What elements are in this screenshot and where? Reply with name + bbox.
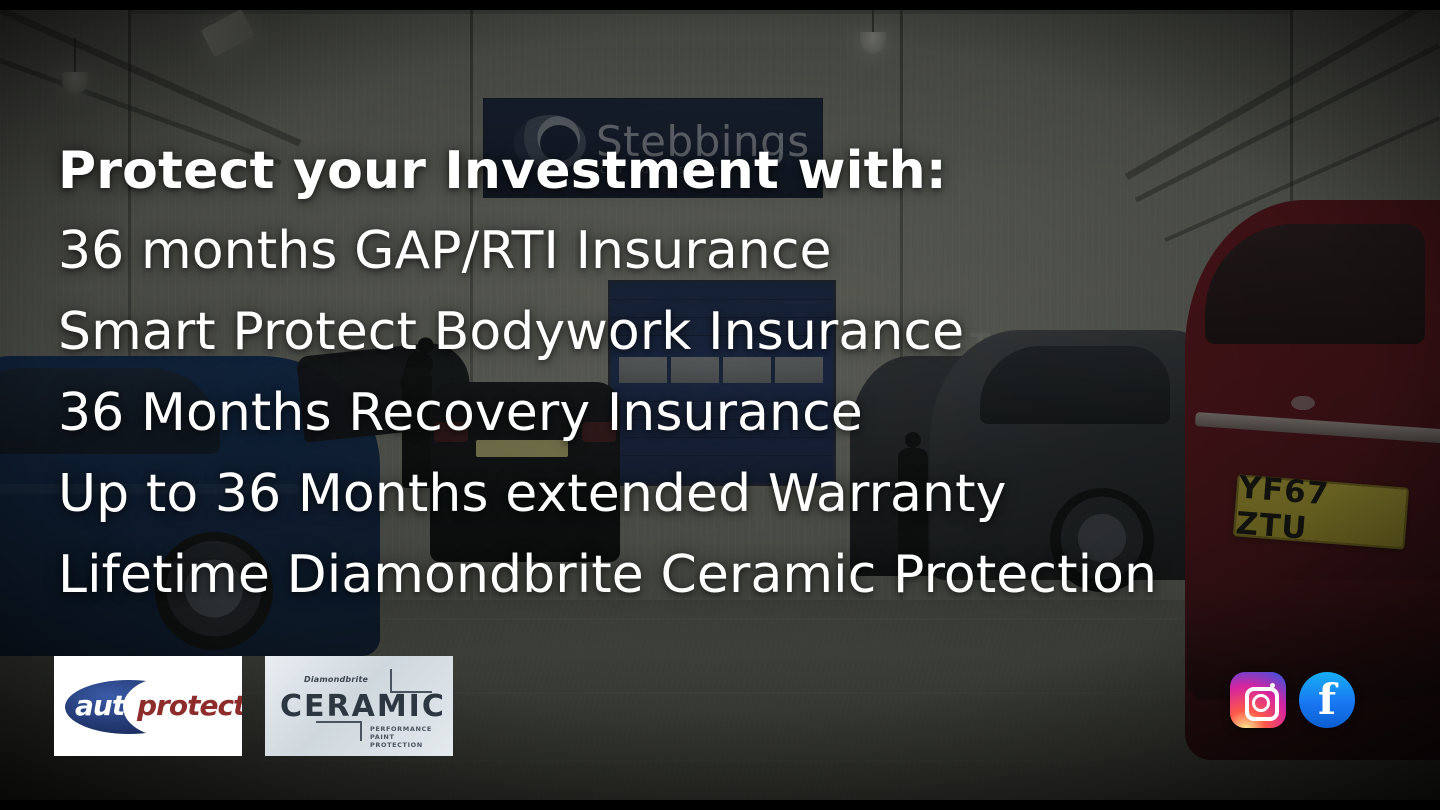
diamondbrite-brand-text: Diamondbrite — [304, 675, 368, 684]
letterbox-bar-bottom — [0, 800, 1440, 810]
autoprotect-word-protect: protect — [137, 689, 242, 722]
social-icon-row: f — [1230, 672, 1355, 728]
ceramic-tagline: PERFORMANCE PAINT PROTECTION — [370, 725, 440, 749]
ceramic-mark-icon: Diamondbrite CERAMIC PERFORMANCE PAINT P… — [278, 667, 440, 745]
page-title: Protect your Investment with: — [58, 132, 1388, 211]
ceramic-word: CERAMIC — [280, 689, 446, 724]
ceramic-tagline-line-2: PAINT PROTECTION — [370, 733, 440, 749]
promo-text-block: Protect your Investment with: 36 months … — [58, 132, 1388, 616]
letterbox-bar-top — [0, 0, 1440, 10]
diamondbrite-ceramic-logo: Diamondbrite CERAMIC PERFORMANCE PAINT P… — [265, 656, 453, 756]
slide-canvas: Stebbings car superstore AP TO — [0, 0, 1440, 810]
benefit-item-5: Lifetime Diamondbrite Ceramic Protection — [58, 535, 1388, 616]
facebook-glyph: f — [1299, 677, 1355, 723]
instagram-icon[interactable] — [1230, 672, 1286, 728]
autoprotect-mark-icon: auto protect — [63, 672, 233, 740]
partner-logo-row: auto protect Diamondbrite CERAMIC PERFOR… — [54, 656, 453, 756]
ceramic-tagline-line-1: PERFORMANCE — [370, 725, 440, 733]
benefit-item-3: 36 Months Recovery Insurance — [58, 373, 1388, 454]
facebook-icon[interactable]: f — [1299, 672, 1355, 728]
autoprotect-word-auto: auto — [75, 689, 142, 722]
ceramic-bracket-icon — [316, 721, 362, 741]
benefit-item-1: 36 months GAP/RTI Insurance — [58, 211, 1388, 292]
benefit-item-2: Smart Protect Bodywork Insurance — [58, 292, 1388, 373]
benefit-item-4: Up to 36 Months extended Warranty — [58, 454, 1388, 535]
autoprotect-logo: auto protect — [54, 656, 242, 756]
